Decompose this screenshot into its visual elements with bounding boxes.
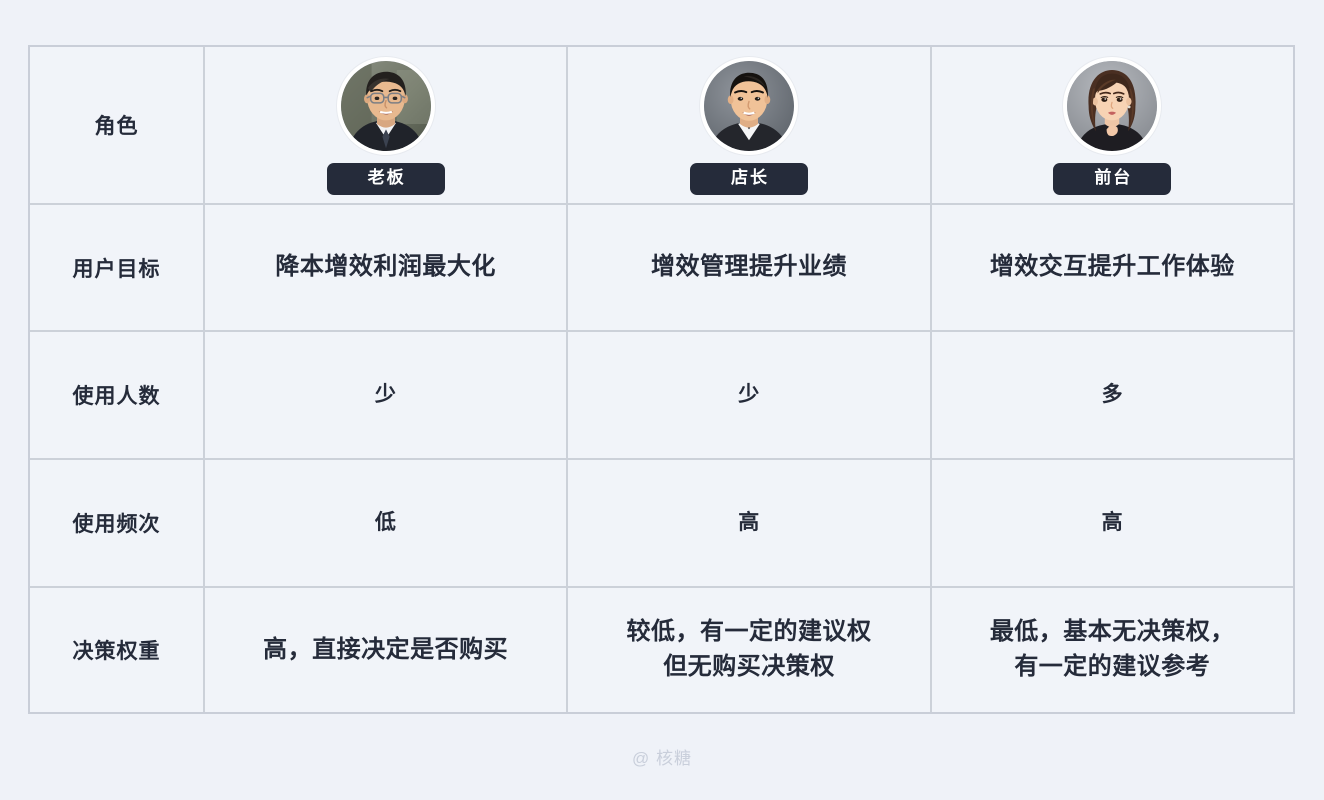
cell-weight-manager: 较低，有一定的建议权 但无购买决策权	[568, 588, 931, 712]
role-badge-manager: 店长	[690, 163, 808, 195]
cell-weight-boss: 高，直接决定是否购买	[205, 588, 568, 712]
role-badge-boss: 老板	[327, 163, 445, 195]
row-label-frequency: 使用频次	[30, 460, 205, 586]
avatar-manager-photo	[700, 57, 798, 155]
cell-weight-boss-text: 高，直接决定是否购买	[263, 633, 508, 668]
avatar-boss-photo	[337, 57, 435, 155]
table-row: 用户目标 降本增效利润最大化 增效管理提升业绩 增效交互提升工作体验	[30, 205, 1293, 332]
cell-goal-manager: 增效管理提升业绩	[568, 205, 931, 330]
cell-frequency-boss: 低	[205, 460, 568, 586]
page-root: 角色	[0, 0, 1324, 800]
cell-weight-receptionist-line1: 最低，基本无决策权，	[990, 615, 1235, 650]
table-row: 使用频次 低 高 高	[30, 460, 1293, 588]
role-cell-receptionist: 前台	[932, 47, 1293, 203]
cell-frequency-manager: 高	[568, 460, 931, 586]
table-row: 角色	[30, 47, 1293, 205]
table-row: 使用人数 少 少 多	[30, 332, 1293, 460]
role-cell-manager: 店长	[568, 47, 931, 203]
cell-count-manager: 少	[568, 332, 931, 458]
row-label-role: 角色	[30, 47, 205, 203]
row-label-user-count: 使用人数	[30, 332, 205, 458]
avatar-block-receptionist: 前台	[1056, 55, 1168, 195]
avatar-block-manager: 店长	[693, 55, 805, 195]
cell-weight-manager-line1: 较低，有一定的建议权	[626, 615, 871, 650]
avatar-block-boss: 老板	[330, 55, 442, 195]
table-row: 决策权重 高，直接决定是否购买 较低，有一定的建议权 但无购买决策权 最低，基本…	[30, 588, 1293, 712]
role-comparison-table: 角色	[28, 45, 1295, 714]
cell-goal-receptionist: 增效交互提升工作体验	[932, 205, 1293, 330]
cell-frequency-receptionist: 高	[932, 460, 1293, 586]
watermark-credit: @ 核糖	[0, 744, 1324, 769]
row-label-decision-weight: 决策权重	[30, 588, 205, 712]
row-label-user-goal: 用户目标	[30, 205, 205, 330]
cell-goal-boss: 降本增效利润最大化	[205, 205, 568, 330]
role-cell-boss: 老板	[205, 47, 568, 203]
cell-weight-manager-line2: 但无购买决策权	[626, 650, 871, 685]
cell-count-boss: 少	[205, 332, 568, 458]
cell-weight-receptionist-line2: 有一定的建议参考	[990, 650, 1235, 685]
role-badge-receptionist: 前台	[1053, 163, 1171, 195]
cell-weight-receptionist: 最低，基本无决策权， 有一定的建议参考	[932, 588, 1293, 712]
cell-count-receptionist: 多	[932, 332, 1293, 458]
avatar-receptionist-photo	[1063, 57, 1161, 155]
